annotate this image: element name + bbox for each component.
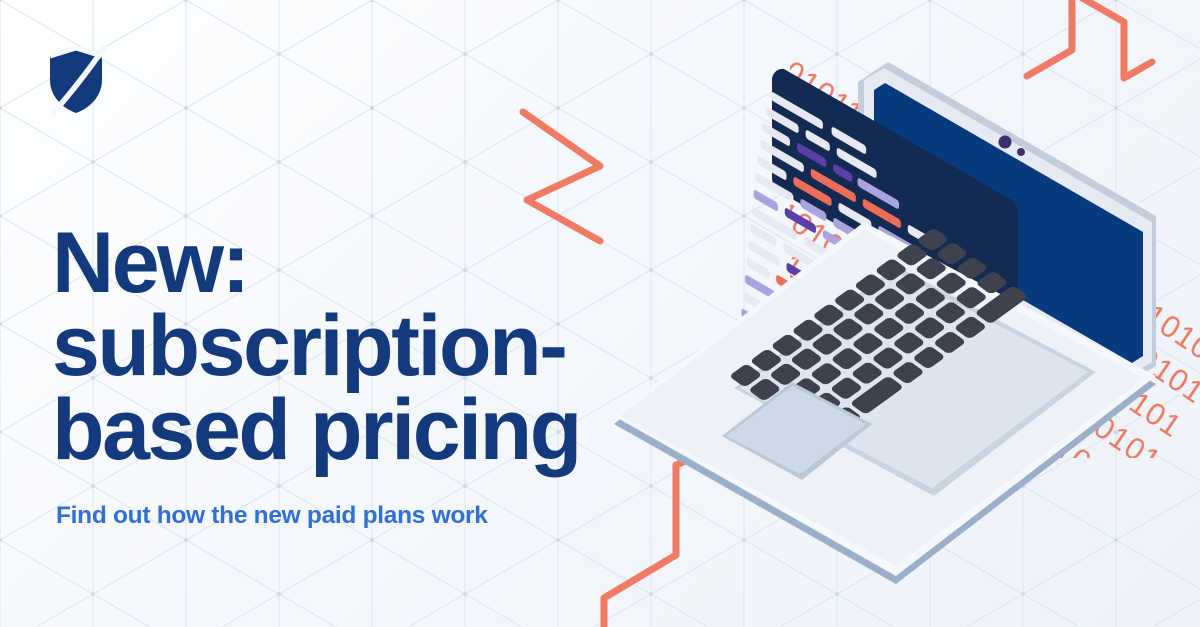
shield-logo xyxy=(46,42,106,116)
headline-line-1: New: xyxy=(52,222,692,305)
headline-line-3: based pricing xyxy=(52,389,692,472)
headline-line-2: subscription- xyxy=(52,305,692,388)
camera-dot-icon xyxy=(999,136,1012,149)
subtitle: Find out how the new paid plans work xyxy=(56,502,692,530)
page-title: New: subscription- based pricing xyxy=(52,222,692,472)
text-block: New: subscription- based pricing Find ou… xyxy=(52,222,692,530)
camera-dot-small-icon xyxy=(1017,148,1025,156)
marketing-banner: 0101101010010101010100101010101010101101… xyxy=(0,0,1200,627)
